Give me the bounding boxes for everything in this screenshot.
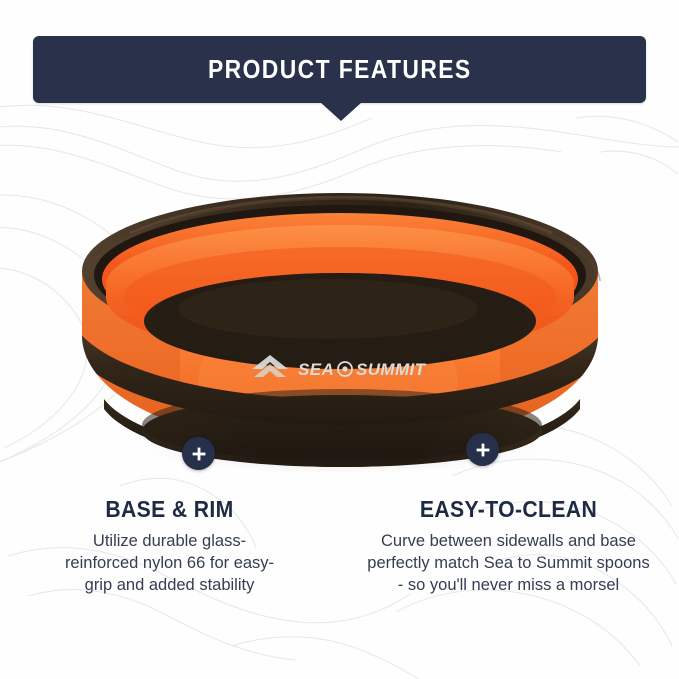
feature-line: perfectly match Sea to Summit spoons (351, 552, 666, 574)
feature-line: grip and added stability (12, 574, 327, 596)
product-feature-graphic: PRODUCT FEATURES (0, 0, 679, 679)
feature-title: EASY-TO-CLEAN (364, 496, 654, 523)
feature-line: Utilize durable glass- (12, 530, 327, 552)
feature-description: Utilize durable glass- reinforced nylon … (12, 530, 327, 596)
collapsible-bowl-image: SEA SUMMIT (60, 185, 620, 485)
feature-base-rim: BASE & RIM Utilize durable glass- reinfo… (0, 496, 339, 596)
feature-line: Curve between sidewalls and base (351, 530, 666, 552)
plus-icon (475, 442, 491, 458)
banner-title: PRODUCT FEATURES (208, 54, 472, 85)
feature-line: reinforced nylon 66 for easy- (12, 552, 327, 574)
feature-title: BASE & RIM (25, 496, 315, 523)
feature-line: - so you'll never miss a morsel (351, 574, 666, 596)
feature-list: BASE & RIM Utilize durable glass- reinfo… (0, 496, 679, 596)
svg-text:SUMMIT: SUMMIT (356, 360, 427, 379)
plus-icon (191, 446, 207, 462)
product-features-banner: PRODUCT FEATURES (33, 36, 646, 103)
feature-easy-to-clean: EASY-TO-CLEAN Curve between sidewalls an… (339, 496, 678, 596)
banner-notch-arrow (320, 102, 362, 121)
plus-badge-easy-to-clean[interactable] (466, 433, 499, 466)
feature-description: Curve between sidewalls and base perfect… (351, 530, 666, 596)
svg-text:SEA: SEA (298, 360, 334, 379)
plus-badge-base-rim[interactable] (182, 437, 215, 470)
